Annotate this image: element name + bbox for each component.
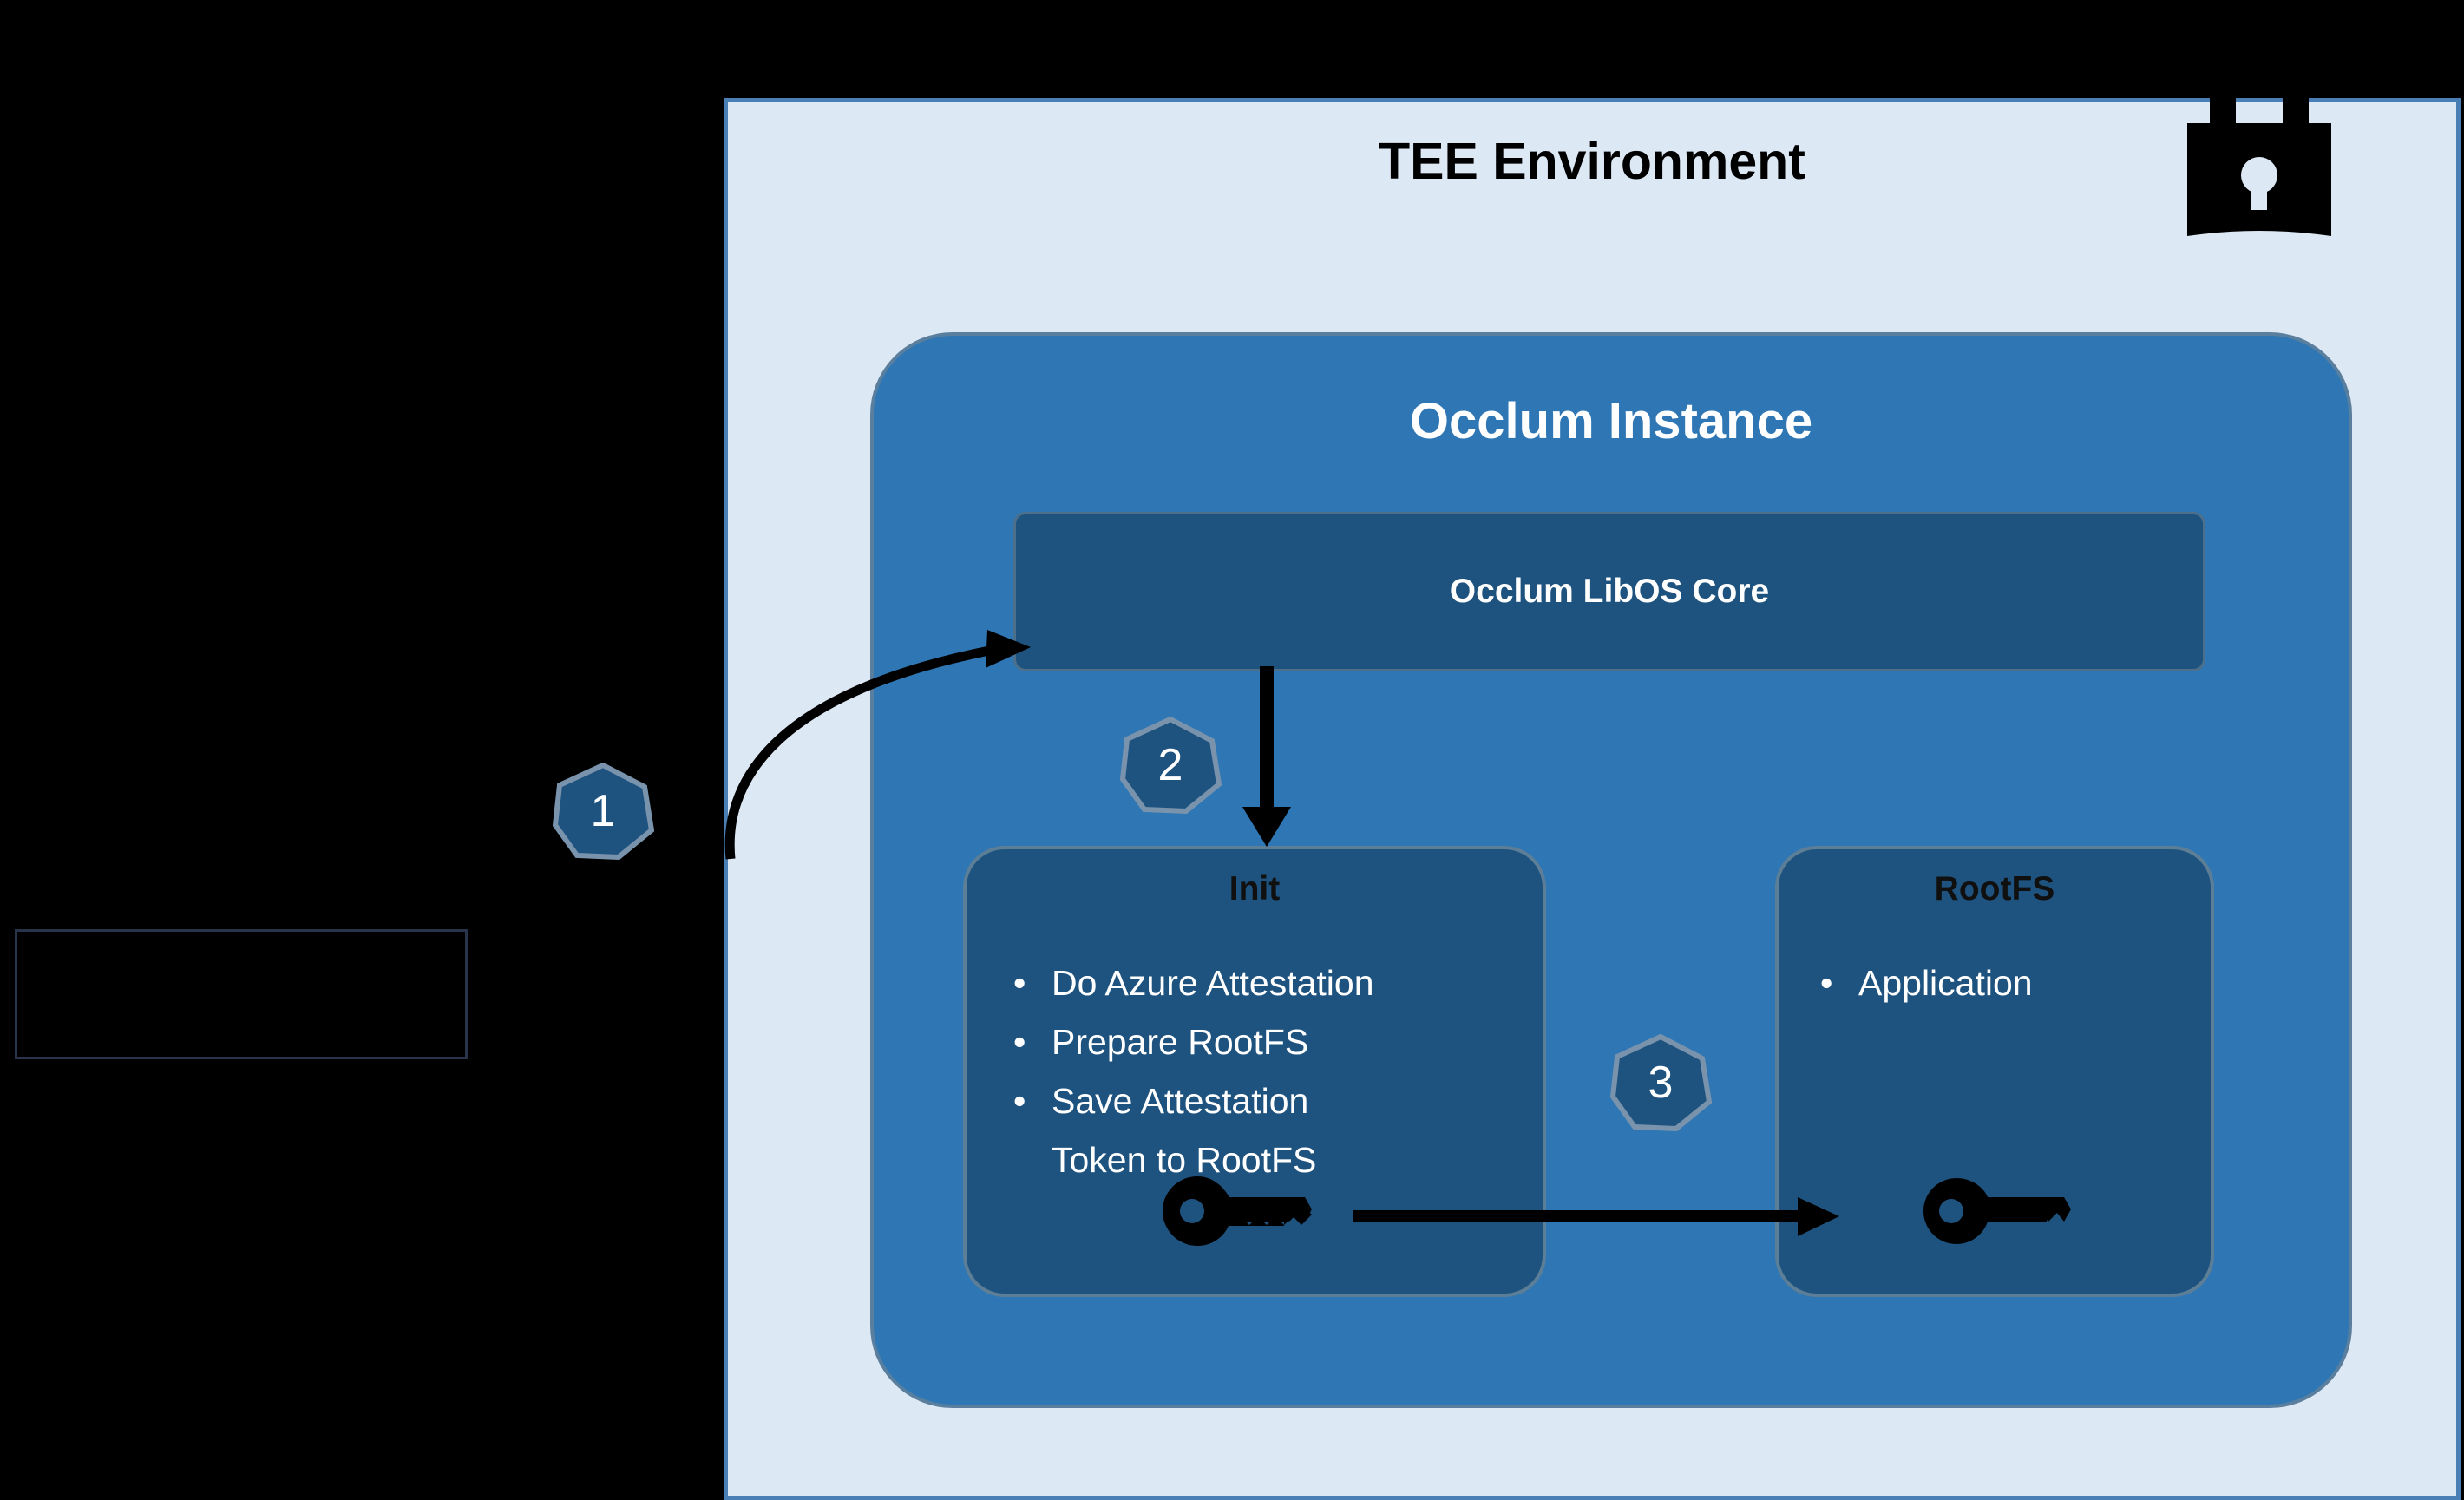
key-icon: [1163, 1176, 1312, 1246]
arrow-into-libos-core: [711, 573, 1076, 859]
occlum-libos-core-label: Occlum LibOS Core: [1450, 573, 1769, 611]
list-item: Do Azure Attestation: [998, 953, 1527, 1012]
step-badge-3: 3: [1609, 1034, 1712, 1131]
key-icon: [1922, 1176, 2071, 1246]
step-badge-3-number: 3: [1609, 1034, 1712, 1131]
empty-outlined-rectangle: [15, 929, 468, 1059]
list-item: Prepare RootFS: [998, 1012, 1527, 1071]
occlum-instance-title: Occlum Instance: [874, 392, 2349, 450]
occlum-libos-core-box: Occlum LibOS Core: [1013, 512, 2205, 671]
arrow-init-key-to-rootfs-key: [1353, 1195, 1839, 1239]
step-badge-2-number: 2: [1119, 717, 1222, 814]
list-item: Save Attestation Token to RootFS: [998, 1071, 1527, 1189]
rootfs-title: RootFS: [1779, 870, 2211, 908]
arrow-libos-to-init: [1232, 666, 1301, 847]
init-title: Init: [967, 870, 1543, 908]
lock-icon: [2168, 73, 2350, 238]
rootfs-bullet-list: Application: [1805, 953, 2195, 1012]
step-badge-1: 1: [552, 763, 654, 860]
step-badge-1-number: 1: [552, 763, 654, 860]
init-bullet-list: Do Azure Attestation Prepare RootFS Save…: [998, 953, 1527, 1189]
list-item: Application: [1805, 953, 2195, 1012]
step-badge-2: 2: [1119, 717, 1222, 814]
